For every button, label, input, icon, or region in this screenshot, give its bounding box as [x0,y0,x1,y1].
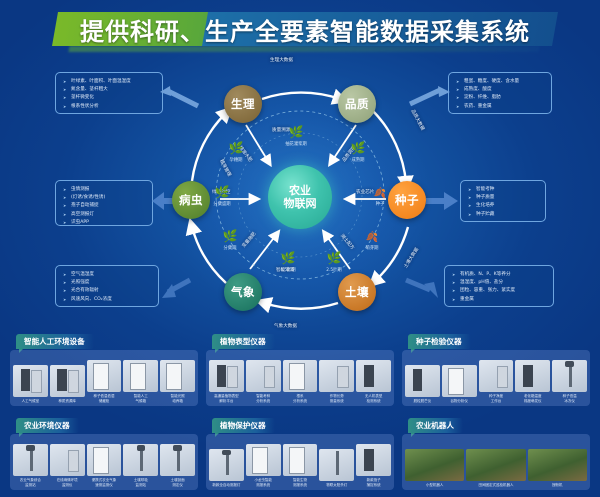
product-item[interactable]: 无人机表型 检测系统 [356,353,391,403]
callout-item: 种子贮藏 [468,211,539,219]
stage-label: 分蘖期 [208,245,252,251]
callout-item: 团粒、容重、张力、紧实度 [452,287,547,295]
product-item[interactable]: 小龙虫智能 测报系统 [246,437,281,487]
page-title: 提供科研、生产全要素智能数据采集系统 [55,8,555,50]
callout-item: 种子质量 [468,194,539,202]
section-title: 植物表型仪器 [212,334,275,349]
callout-seed: 智能考种 种子质量 生化培养 种子贮藏 [460,180,546,222]
stage-label: 2.5叶期 [312,267,356,273]
callout-subitem: (灯诱/食诱/性诱) [63,194,146,202]
node-soil[interactable]: 土壤 [338,273,376,311]
node-label: 生理 [231,96,255,112]
product-caption: 新款孢子 捕捉系统 [367,478,381,487]
title-banner: 提供科研、生产全要素智能数据采集系统 [55,8,555,50]
node-label: 品质 [345,96,369,112]
product-caption: 种质资源库 [58,399,76,403]
product-thumb [246,360,281,392]
product-item[interactable]: 农业气象综合 监测站 [13,437,48,487]
product-thumb [123,360,158,392]
section-title: 智能人工环境设备 [16,334,94,349]
sprout-icon: 🌿 [327,251,342,265]
section-items: 人工气候室 种质资源库 种子低温低湿 储藏柜 智能人工 气候箱 智能光照 培养箱 [10,350,198,406]
product-caption: 无人机表型 检测系统 [365,394,383,403]
product-thumb [209,360,244,392]
product-caption: 田间固定式巡检机器人 [478,483,513,487]
product-item[interactable]: 种质资源库 [50,353,85,403]
callout-pest: 虫情测报 (灯诱/食诱/性诱) 孢子自动捕捉 高空测报灯 识虫APP [55,180,153,226]
section-items: 新款全自动测报灯 小龙虫智能 测报系统 智能生物 测报系统 物联太阳杀灯 新款孢… [206,434,394,490]
product-item[interactable]: 脱粒脱芒仪 [405,353,440,403]
product-caption: 脱粒脱芒仪 [414,399,432,403]
section-title: 种子检验仪器 [408,334,471,349]
product-thumb [123,444,158,476]
product-thumb [319,360,354,392]
product-item[interactable]: 智能光照 培养箱 [160,353,195,403]
product-thumb [405,449,464,481]
product-item[interactable]: 智能生物 测报系统 [283,437,318,487]
product-thumb [552,360,587,392]
product-thumb [515,360,550,392]
node-quality[interactable]: 品质 [338,85,376,123]
product-thumb [405,365,440,397]
callout-item: 高空测报灯 [63,211,146,219]
product-thumb [528,449,587,481]
arc-label-physiology-bigdata: 生理大数据 [270,57,293,63]
product-thumb [246,444,281,476]
sprout-icon: 🌿 [289,125,304,139]
product-item[interactable]: 智能考种 分析系统 [246,353,281,403]
sprout-icon: 🌿 [215,185,230,199]
product-caption: 智能生物 测报系统 [293,478,307,487]
product-caption: 种子净度 工作台 [489,394,503,403]
stage-tillering: 🌿 分蘖期 [208,225,252,251]
product-thumb [283,444,318,476]
node-pest[interactable]: 病虫 [172,181,210,219]
stage-label: 萌芽期 [350,245,394,251]
stage-label: 孕穗期 [214,157,258,163]
section-smart-environment: 智能人工环境设备 人工气候室 种质资源库 种子低温低湿 储藏柜 智能人工 气候箱… [10,334,198,408]
stage-label: 抽花灌浆期 [274,141,318,147]
product-caption: 人工气候室 [22,399,40,403]
callout-item: 茎杆微变化 [63,94,156,102]
product-item[interactable]: 谷物分析仪 [442,353,477,403]
product-thumb [13,365,48,397]
core-line2: 物联网 [284,197,317,210]
sprout-icon: 🌿 [281,251,296,265]
product-caption: 种子低温 冰冻仪 [563,394,577,403]
stage-leaf25: 🌿 2.5叶期 [312,247,356,273]
product-item[interactable]: 在线墒情环境 监测仪 [50,437,85,487]
product-thumb [209,449,244,481]
section-seed-inspection: 种子检验仪器 脱粒脱芒仪 谷物分析仪 种子净度 工作台 老化箱温度 梯度萌发仪 … [402,334,590,408]
product-caption: 在线墒情环境 监测仪 [57,478,78,487]
stage-label: 成熟期 [336,157,380,163]
product-caption: 授粉机 [552,483,563,487]
stage-label: 4.5叶期 [266,267,310,273]
callout-item: 识虫APP [63,219,146,227]
callout-item: 氮含量、茎杆粗大 [63,86,156,94]
product-thumb [466,449,525,481]
callout-item: 孢子自动捕捉 [63,202,146,210]
node-label: 种子 [395,192,419,208]
product-item[interactable]: 便携式农业气象 速测监测仪 [87,437,122,487]
product-caption: 作物长势 测量系统 [330,394,344,403]
product-caption: 小型机器人 [426,483,444,487]
callout-item: 有机质、N、P、K等养分 [452,271,547,279]
sprout-icon: 🍂 [366,232,378,243]
callout-item: 根系性状分析 [63,103,156,111]
product-item[interactable]: 种子低温低湿 储藏柜 [87,353,122,403]
callout-item: 温湿度、pH值、盐分 [452,279,547,287]
product-thumb [160,360,195,392]
product-caption: 土壤剖面 测定仪 [171,478,185,487]
section-plant-phenotype: 植物表型仪器 高通量植物表型 解析平台 智能考种 分析系统 根系 分析系统 作物… [206,334,394,408]
product-caption: 小龙虫智能 测报系统 [254,478,272,487]
product-item[interactable]: 智能人工 气候箱 [123,353,158,403]
product-item[interactable]: 小型机器人 [405,437,464,487]
callout-item: 空气温湿度 [63,271,152,279]
section-title: 农业环境仪器 [16,418,79,433]
node-label: 病虫 [179,192,203,208]
product-caption: 谷物分析仪 [450,399,468,403]
product-item[interactable]: 土壤剖面 测定仪 [160,437,195,487]
product-item[interactable]: 种子净度 工作台 [479,353,514,403]
sprout-icon: 🌿 [223,229,238,243]
product-item[interactable]: 作物长势 测量系统 [319,353,354,403]
node-meteorology[interactable]: 气象 [224,273,262,311]
callout-item: 叶绿素、叶面积、叶面温湿度 [63,78,156,86]
product-item[interactable]: 田间固定式巡检机器人 [466,437,525,487]
product-caption: 智能光照 培养箱 [171,394,185,403]
product-caption: 根系 分析系统 [293,394,307,403]
product-thumb [50,365,85,397]
callout-meteorology: 空气温湿度 光照强度 光合有效辐射 风速风向、CO₂浓度 [55,265,159,307]
callout-item: 淀粉、纤维、脂肪 [456,94,545,102]
callout-item: 成熟度、酸度 [456,86,545,94]
section-title: 植物保护仪器 [212,418,275,433]
section-agri-robot: 农业机器人 小型机器人 田间固定式巡检机器人 授粉机 [402,418,590,492]
product-item[interactable]: 授粉机 [528,437,587,487]
product-caption: 新款全自动测报灯 [212,483,240,487]
product-item[interactable]: 新款全自动测报灯 [209,437,244,487]
section-items: 脱粒脱芒仪 谷物分析仪 种子净度 工作台 老化箱温度 梯度萌发仪 种子低温 冰冻… [402,350,590,406]
stage-booting: 🌿 孕穗期 [214,137,258,163]
product-caption: 智能考种 分析系统 [256,394,270,403]
stage-germination: 🍂 萌芽期 [350,225,394,251]
callout-item: 农药、重金属 [456,103,545,111]
product-thumb [442,365,477,397]
product-caption: 智能人工 气候箱 [134,394,148,403]
callout-soil: 有机质、N、P、K等养分 温湿度、pH值、盐分 团粒、容重、张力、紧实度 重金属 [444,265,554,307]
arc-label-meteorology-bigdata: 气象大数据 [274,323,297,329]
product-caption: 便携式农业气象 速测监测仪 [92,478,117,487]
callout-item: 风速风向、CO₂浓度 [63,296,152,304]
sprout-icon: 🌿 [351,141,366,155]
product-item[interactable]: 新款孢子 捕捉系统 [356,437,391,487]
callout-item: 智能考种 [468,186,539,194]
product-thumb [87,360,122,392]
cycle-diagram: 生理大数据 品质大数据 土壤大数据 气象大数据 质量溯源 绿色防控 农业芯片 智… [150,55,450,335]
section-items: 高通量植物表型 解析平台 智能考种 分析系统 根系 分析系统 作物长势 测量系统… [206,350,394,406]
product-thumb [356,444,391,476]
product-thumb [319,449,354,481]
callout-item: 粗蛋、糖度、硬度、含水量 [456,78,545,86]
callout-item: 重金属 [452,296,547,304]
sprout-icon: 🌿 [229,141,244,155]
product-thumb [160,444,195,476]
product-caption: 种子低温低湿 储藏柜 [93,394,114,403]
section-title: 农业机器人 [408,418,463,433]
callout-physiology: 叶绿素、叶面积、叶面温湿度 氮含量、茎杆粗大 茎杆微变化 根系性状分析 [55,72,163,114]
product-caption: 老化箱温度 梯度萌发仪 [524,394,542,403]
stage-leaf45: 🌿 4.5叶期 [266,247,310,273]
product-item[interactable]: 种子低温 冰冻仪 [552,353,587,403]
section-agri-environment: 农业环境仪器 农业气象综合 监测站 在线墒情环境 监测仪 便携式农业气象 速测监… [10,418,198,492]
section-items: 小型机器人 田间固定式巡检机器人 授粉机 [402,434,590,490]
callout-item: 虫情测报 [63,186,146,194]
product-item[interactable]: 根系 分析系统 [283,353,318,403]
section-items: 农业气象综合 监测站 在线墒情环境 监测仪 便携式农业气象 速测监测仪 土壤呼吸… [10,434,198,490]
node-seed[interactable]: 种子 [388,181,426,219]
product-caption: 土壤呼吸 监测站 [134,478,148,487]
product-item[interactable]: 高通量植物表型 解析平台 [209,353,244,403]
node-label: 土壤 [345,284,369,300]
seed-icon: 🍂 [374,188,386,199]
section-plant-protection: 植物保护仪器 新款全自动测报灯 小龙虫智能 测报系统 智能生物 测报系统 物联太… [206,418,394,492]
stage-flowering: 🌿 抽花灌浆期 [274,121,318,147]
product-item[interactable]: 人工气候室 [13,353,48,403]
product-item[interactable]: 老化箱温度 梯度萌发仪 [515,353,550,403]
product-thumb [87,444,122,476]
node-label: 气象 [231,284,255,300]
product-item[interactable]: 物联太阳杀灯 [319,437,354,487]
product-caption: 高通量植物表型 解析平台 [214,394,239,403]
product-thumb [356,360,391,392]
core-label: 农业 物联网 [268,165,332,229]
callout-item: 生化培养 [468,202,539,210]
product-thumb [283,360,318,392]
product-thumb [479,360,514,392]
product-caption: 农业气象综合 监测站 [20,478,41,487]
product-thumb [50,444,85,476]
node-physiology[interactable]: 生理 [224,85,262,123]
callout-item: 光合有效辐射 [63,287,152,295]
callout-item: 光照强度 [63,279,152,287]
stage-maturity: 🌿 成熟期 [336,137,380,163]
callout-quality: 粗蛋、糖度、硬度、含水量 成熟度、酸度 淀粉、纤维、脂肪 农药、重金属 [448,72,552,114]
product-thumb [13,444,48,476]
product-caption: 物联太阳杀灯 [326,483,347,487]
poster-background: 提供科研、生产全要素智能数据采集系统 叶绿素、叶面积、叶面温湿度 氮含量、茎杆粗… [0,0,600,497]
product-sections: 智能人工环境设备 人工气候室 种质资源库 种子低温低湿 储藏柜 智能人工 气候箱… [10,334,590,492]
core-line1: 农业 [289,184,311,197]
product-item[interactable]: 土壤呼吸 监测站 [123,437,158,487]
